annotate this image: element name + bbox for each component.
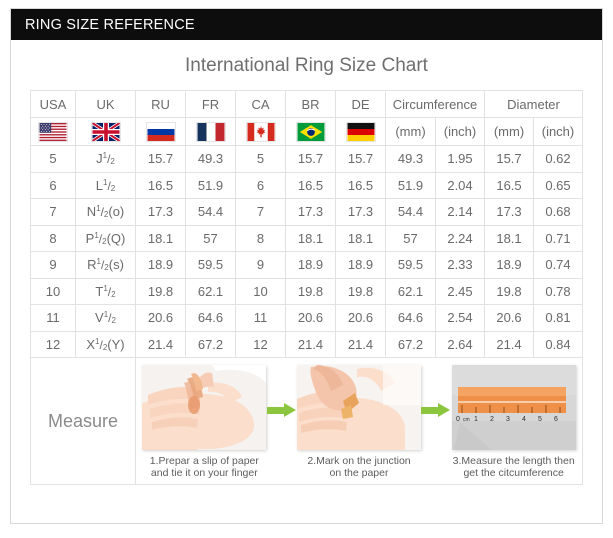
cell-circ-in: 2.14 <box>436 199 485 226</box>
uk-flag-icon <box>91 122 121 142</box>
cell-uk: N1/2(o) <box>76 199 136 226</box>
cell-ru: 21.4 <box>136 331 186 358</box>
cell-br: 20.6 <box>286 305 336 332</box>
header-ca: CA <box>236 91 286 118</box>
cell-ru: 19.8 <box>136 278 186 305</box>
cell-ca: 11 <box>236 305 286 332</box>
svg-text:5: 5 <box>538 416 542 423</box>
header-ru: RU <box>136 91 186 118</box>
flag-cell-germany <box>336 118 386 146</box>
cell-ca: 9 <box>236 252 286 279</box>
cell-dia-in: 0.71 <box>534 225 583 252</box>
measure-step-2: 2.Mark on the junction on the paper <box>297 365 422 479</box>
step-1-caption-line2: and tie it on your finger <box>151 467 258 479</box>
measure-step-1-caption: 1.Prepar a slip of paper and tie it on y… <box>142 455 266 479</box>
cell-dia-mm: 19.8 <box>485 278 534 305</box>
cell-ca: 10 <box>236 278 286 305</box>
uk-suffix: (Q) <box>107 231 126 246</box>
cell-ru: 18.9 <box>136 252 186 279</box>
cell-ca: 5 <box>236 146 286 173</box>
flag-cell-russia <box>136 118 186 146</box>
cell-ru: 17.3 <box>136 199 186 226</box>
cell-dia-mm: 15.7 <box>485 146 534 173</box>
step-3-caption-line2: get the citcumference <box>463 467 563 479</box>
cell-dia-mm: 18.1 <box>485 225 534 252</box>
svg-text:2: 2 <box>490 416 494 423</box>
step-3-caption-line1: 3.Measure the length then <box>453 455 575 467</box>
uk-letter: N <box>87 204 96 219</box>
unit-diameter-mm: (mm) <box>485 118 534 146</box>
cell-ru: 18.1 <box>136 225 186 252</box>
cell-usa: 12 <box>31 331 76 358</box>
cell-dia-in: 0.84 <box>534 331 583 358</box>
measure-step-1: 1.Prepar a slip of paper and tie it on y… <box>142 365 267 479</box>
hand-with-paper-strip-photo <box>142 365 266 450</box>
cell-circ-in: 2.04 <box>436 172 485 199</box>
cell-circ-in: 2.33 <box>436 252 485 279</box>
cell-ru: 20.6 <box>136 305 186 332</box>
cell-br: 16.5 <box>286 172 336 199</box>
svg-text:3: 3 <box>506 416 510 423</box>
cell-uk: V1/2 <box>76 305 136 332</box>
flag-cell-canada <box>236 118 286 146</box>
cell-dia-in: 0.62 <box>534 146 583 173</box>
marking-paper-junction-photo <box>297 365 421 450</box>
step-2-caption-line1: 2.Mark on the junction <box>307 455 410 467</box>
cell-ru: 15.7 <box>136 146 186 173</box>
arrow-1-icon <box>267 403 297 417</box>
page-frame: RING SIZE REFERENCE International Ring S… <box>10 8 603 524</box>
uk-suffix: (o) <box>108 204 124 219</box>
cell-circ-mm: 67.2 <box>386 331 436 358</box>
cell-br: 18.1 <box>286 225 336 252</box>
france-flag-icon <box>196 122 226 142</box>
svg-text:cm: cm <box>463 417 470 423</box>
uk-letter: X <box>86 337 95 352</box>
cell-dia-mm: 21.4 <box>485 331 534 358</box>
uk-denominator: 2 <box>111 290 115 299</box>
cell-ca: 6 <box>236 172 286 199</box>
cell-circ-in: 2.54 <box>436 305 485 332</box>
brazil-flag-icon <box>296 122 326 142</box>
measure-label-cell: Measure <box>31 358 136 485</box>
flag-cell-brazil <box>286 118 336 146</box>
measure-steps: 1.Prepar a slip of paper and tie it on y… <box>136 361 582 481</box>
cell-circ-mm: 62.1 <box>386 278 436 305</box>
header-de: DE <box>336 91 386 118</box>
cell-circ-mm: 54.4 <box>386 199 436 226</box>
cell-de: 15.7 <box>336 146 386 173</box>
header-br: BR <box>286 91 336 118</box>
cell-dia-in: 0.68 <box>534 199 583 226</box>
measure-label: Measure <box>31 411 135 432</box>
uk-letter: P <box>86 231 95 246</box>
cell-fr: 51.9 <box>186 172 236 199</box>
measure-step-3-caption: 3.Measure the length then get the citcum… <box>452 455 576 479</box>
cell-br: 18.9 <box>286 252 336 279</box>
flag-cell-usa <box>31 118 76 146</box>
cell-fr: 62.1 <box>186 278 236 305</box>
svg-text:4: 4 <box>522 416 526 423</box>
cell-fr: 49.3 <box>186 146 236 173</box>
uk-letter: V <box>95 310 104 325</box>
uk-denominator: 2 <box>112 316 116 325</box>
chart-title: International Ring Size Chart <box>11 40 602 90</box>
uk-letter: L <box>96 178 103 193</box>
table-row: 6L1/216.551.9616.516.551.92.0416.50.65 <box>31 172 583 199</box>
cell-usa: 8 <box>31 225 76 252</box>
cell-ru: 16.5 <box>136 172 186 199</box>
cell-uk: P1/2(Q) <box>76 225 136 252</box>
step-1-caption-line1: 1.Prepar a slip of paper <box>150 455 259 467</box>
cell-circ-mm: 64.6 <box>386 305 436 332</box>
cell-usa: 6 <box>31 172 76 199</box>
cell-ca: 7 <box>236 199 286 226</box>
cell-circ-in: 2.45 <box>436 278 485 305</box>
cell-fr: 57 <box>186 225 236 252</box>
cell-de: 19.8 <box>336 278 386 305</box>
cell-dia-mm: 20.6 <box>485 305 534 332</box>
cell-fr: 54.4 <box>186 199 236 226</box>
uk-suffix: (s) <box>109 257 124 272</box>
flag-cell-uk <box>76 118 136 146</box>
canada-flag-icon <box>246 122 276 142</box>
arrow-2-icon <box>421 403 451 417</box>
cell-de: 20.6 <box>336 305 386 332</box>
measure-row: Measure <box>31 358 583 485</box>
unit-circumference-inch: (inch) <box>436 118 485 146</box>
header-fr: FR <box>186 91 236 118</box>
cell-usa: 11 <box>31 305 76 332</box>
cell-br: 21.4 <box>286 331 336 358</box>
usa-flag-icon <box>38 122 68 142</box>
cell-de: 21.4 <box>336 331 386 358</box>
russia-flag-icon <box>146 122 176 142</box>
step-2-caption-line2: on the paper <box>330 467 389 479</box>
cell-dia-in: 0.65 <box>534 172 583 199</box>
header-title: RING SIZE REFERENCE <box>25 17 195 33</box>
table-row: 8P1/2(Q)18.157818.118.1572.2418.10.71 <box>31 225 583 252</box>
unit-circumference-mm: (mm) <box>386 118 436 146</box>
table-header-flags: (mm) (inch) (mm) (inch) <box>31 118 583 146</box>
cell-circ-in: 2.24 <box>436 225 485 252</box>
germany-flag-icon <box>346 122 376 142</box>
cell-de: 18.9 <box>336 252 386 279</box>
cell-dia-mm: 18.9 <box>485 252 534 279</box>
cell-ca: 8 <box>236 225 286 252</box>
cell-circ-in: 1.95 <box>436 146 485 173</box>
table-row: 10T1/219.862.11019.819.862.12.4519.80.78 <box>31 278 583 305</box>
cell-de: 16.5 <box>336 172 386 199</box>
measure-step-3: 0cm 12 34 56 3.Measure the length then g… <box>451 365 576 479</box>
cell-de: 18.1 <box>336 225 386 252</box>
header-diameter: Diameter <box>485 91 583 118</box>
unit-diameter-inch: (inch) <box>534 118 583 146</box>
table-row: 11V1/220.664.61120.620.664.62.5420.60.81 <box>31 305 583 332</box>
measure-steps-cell: 1.Prepar a slip of paper and tie it on y… <box>136 358 583 485</box>
header-bar: RING SIZE REFERENCE <box>11 9 602 40</box>
uk-denominator: 2 <box>110 157 114 166</box>
cell-dia-in: 0.78 <box>534 278 583 305</box>
cell-fr: 64.6 <box>186 305 236 332</box>
ring-size-reference-page: RING SIZE REFERENCE International Ring S… <box>0 0 613 538</box>
uk-denominator: 2 <box>111 184 115 193</box>
header-circumference: Circumference <box>386 91 485 118</box>
cell-dia-in: 0.74 <box>534 252 583 279</box>
cell-dia-mm: 17.3 <box>485 199 534 226</box>
cell-de: 17.3 <box>336 199 386 226</box>
cell-fr: 59.5 <box>186 252 236 279</box>
table-header-countries: USA UK RU FR CA BR DE Circumference Diam… <box>31 91 583 118</box>
table-row: 12X1/2(Y)21.467.21221.421.467.22.6421.40… <box>31 331 583 358</box>
cell-circ-mm: 49.3 <box>386 146 436 173</box>
cell-uk: L1/2 <box>76 172 136 199</box>
cell-uk: J1/2 <box>76 146 136 173</box>
table-row: 5J1/215.749.3515.715.749.31.9515.70.62 <box>31 146 583 173</box>
cell-dia-in: 0.81 <box>534 305 583 332</box>
cell-circ-mm: 51.9 <box>386 172 436 199</box>
cell-fr: 67.2 <box>186 331 236 358</box>
header-uk: UK <box>76 91 136 118</box>
ruler-measuring-photo: 0cm 12 34 56 <box>452 365 576 450</box>
measure-step-2-caption: 2.Mark on the junction on the paper <box>297 455 421 479</box>
cell-br: 17.3 <box>286 199 336 226</box>
table-row: 7N1/2(o)17.354.4717.317.354.42.1417.30.6… <box>31 199 583 226</box>
cell-circ-in: 2.64 <box>436 331 485 358</box>
cell-dia-mm: 16.5 <box>485 172 534 199</box>
table-row: 9R1/2(s)18.959.5918.918.959.52.3318.90.7… <box>31 252 583 279</box>
cell-uk: T1/2 <box>76 278 136 305</box>
cell-ca: 12 <box>236 331 286 358</box>
cell-usa: 9 <box>31 252 76 279</box>
uk-suffix: (Y) <box>107 337 124 352</box>
svg-text:1: 1 <box>474 416 478 423</box>
header-usa: USA <box>31 91 76 118</box>
cell-br: 19.8 <box>286 278 336 305</box>
flag-cell-france <box>186 118 236 146</box>
svg-text:0: 0 <box>456 416 460 423</box>
ring-size-table: USA UK RU FR CA BR DE Circumference Diam… <box>30 90 583 485</box>
cell-br: 15.7 <box>286 146 336 173</box>
cell-usa: 10 <box>31 278 76 305</box>
svg-text:6: 6 <box>554 416 558 423</box>
cell-circ-mm: 57 <box>386 225 436 252</box>
cell-uk: R1/2(s) <box>76 252 136 279</box>
cell-usa: 5 <box>31 146 76 173</box>
cell-uk: X1/2(Y) <box>76 331 136 358</box>
table-body: 5J1/215.749.3515.715.749.31.9515.70.626L… <box>31 146 583 358</box>
cell-circ-mm: 59.5 <box>386 252 436 279</box>
cell-usa: 7 <box>31 199 76 226</box>
